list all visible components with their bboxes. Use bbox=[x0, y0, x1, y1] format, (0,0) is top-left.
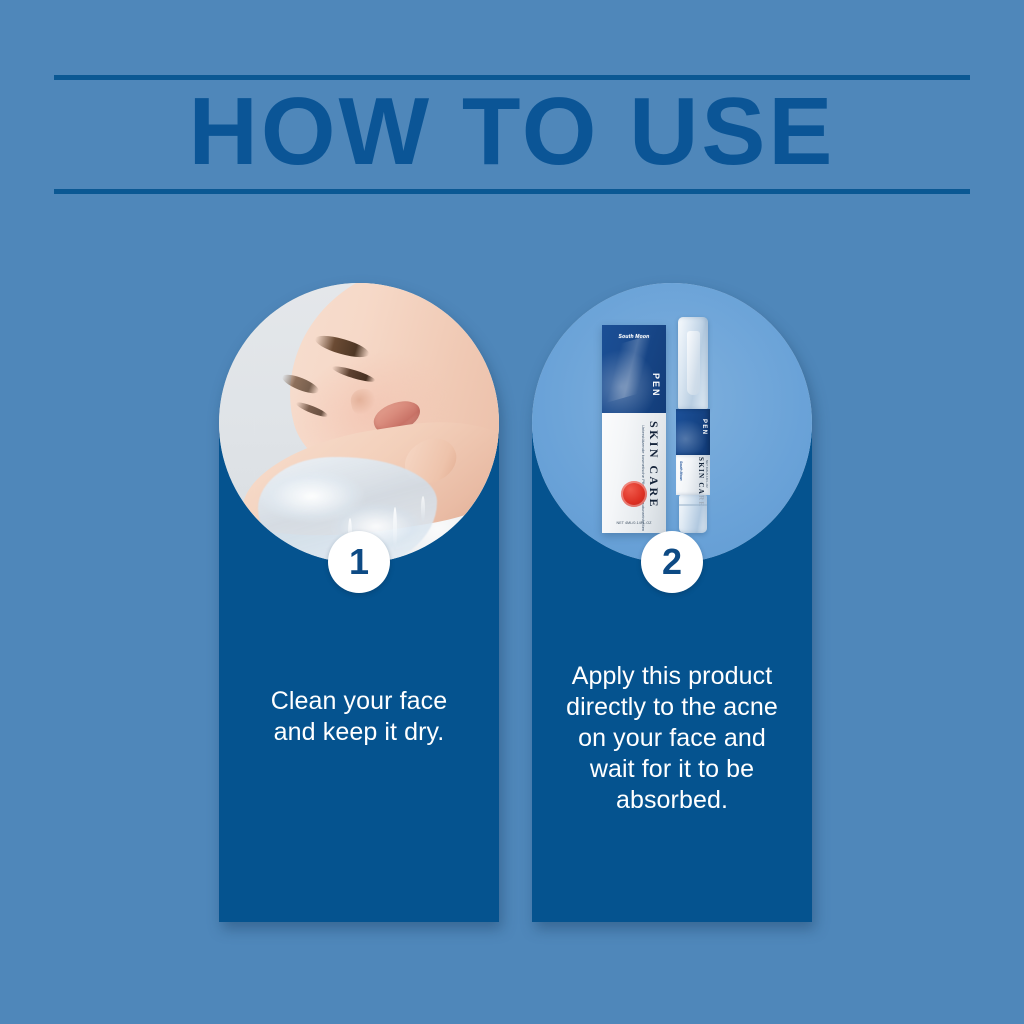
water-drip-icon bbox=[393, 507, 397, 551]
pen-base bbox=[679, 495, 707, 533]
steps-container: 1 Clean your face and keep it dry. South… bbox=[0, 283, 1024, 943]
step-2-media: South Moon PEN SKIN CARE Unterstützende … bbox=[532, 283, 812, 563]
step-number-badge-1: 1 bbox=[328, 531, 390, 593]
product-box-pen-word: PEN bbox=[651, 373, 661, 398]
product-pen: PEN SKIN CARE South Moon NET 4ML/0.14FL.… bbox=[676, 317, 710, 533]
pen-cap-inner bbox=[687, 331, 700, 395]
product-photo: South Moon PEN SKIN CARE Unterstützende … bbox=[592, 311, 752, 535]
step-1-media bbox=[219, 283, 499, 563]
face-washing-photo bbox=[219, 283, 499, 563]
pen-net-weight: NET 4ML/0.14FL.OZ bbox=[705, 460, 709, 488]
pen-blue-label: PEN bbox=[676, 409, 710, 455]
pen-barrel: SKIN CARE South Moon NET 4ML/0.14FL.OZ bbox=[676, 455, 710, 495]
header: HOW TO USE bbox=[54, 70, 970, 194]
step-card-1[interactable]: 1 Clean your face and keep it dry. bbox=[219, 283, 499, 922]
poster-canvas: HOW TO USE bbox=[0, 0, 1024, 1024]
product-backdrop: South Moon PEN SKIN CARE Unterstützende … bbox=[532, 283, 812, 563]
title-rule-bottom bbox=[54, 189, 970, 194]
product-box-net-weight: NET 4ML/0.14FL.OZ bbox=[617, 521, 652, 525]
water-drip-icon bbox=[421, 496, 425, 522]
step-caption-2: Apply this product directly to the acne … bbox=[538, 661, 806, 816]
pen-brand-logo: South Moon bbox=[679, 461, 683, 481]
page-title: HOW TO USE bbox=[54, 84, 970, 180]
pen-base-ring bbox=[679, 504, 707, 506]
red-seal-icon bbox=[621, 481, 647, 507]
step-number-badge-2: 2 bbox=[641, 531, 703, 593]
pen-cap bbox=[678, 317, 708, 409]
step-card-2-body: South Moon PEN SKIN CARE Unterstützende … bbox=[532, 283, 812, 922]
step-caption-1: Clean your face and keep it dry. bbox=[225, 686, 493, 748]
step-card-1-body: 1 Clean your face and keep it dry. bbox=[219, 283, 499, 922]
step-card-2[interactable]: South Moon PEN SKIN CARE Unterstützende … bbox=[532, 283, 812, 922]
product-box-title: SKIN CARE bbox=[646, 421, 661, 509]
pen-pen-word: PEN bbox=[701, 419, 707, 436]
product-box: South Moon PEN SKIN CARE Unterstützende … bbox=[602, 325, 666, 533]
brand-logo: South Moon bbox=[619, 334, 650, 340]
